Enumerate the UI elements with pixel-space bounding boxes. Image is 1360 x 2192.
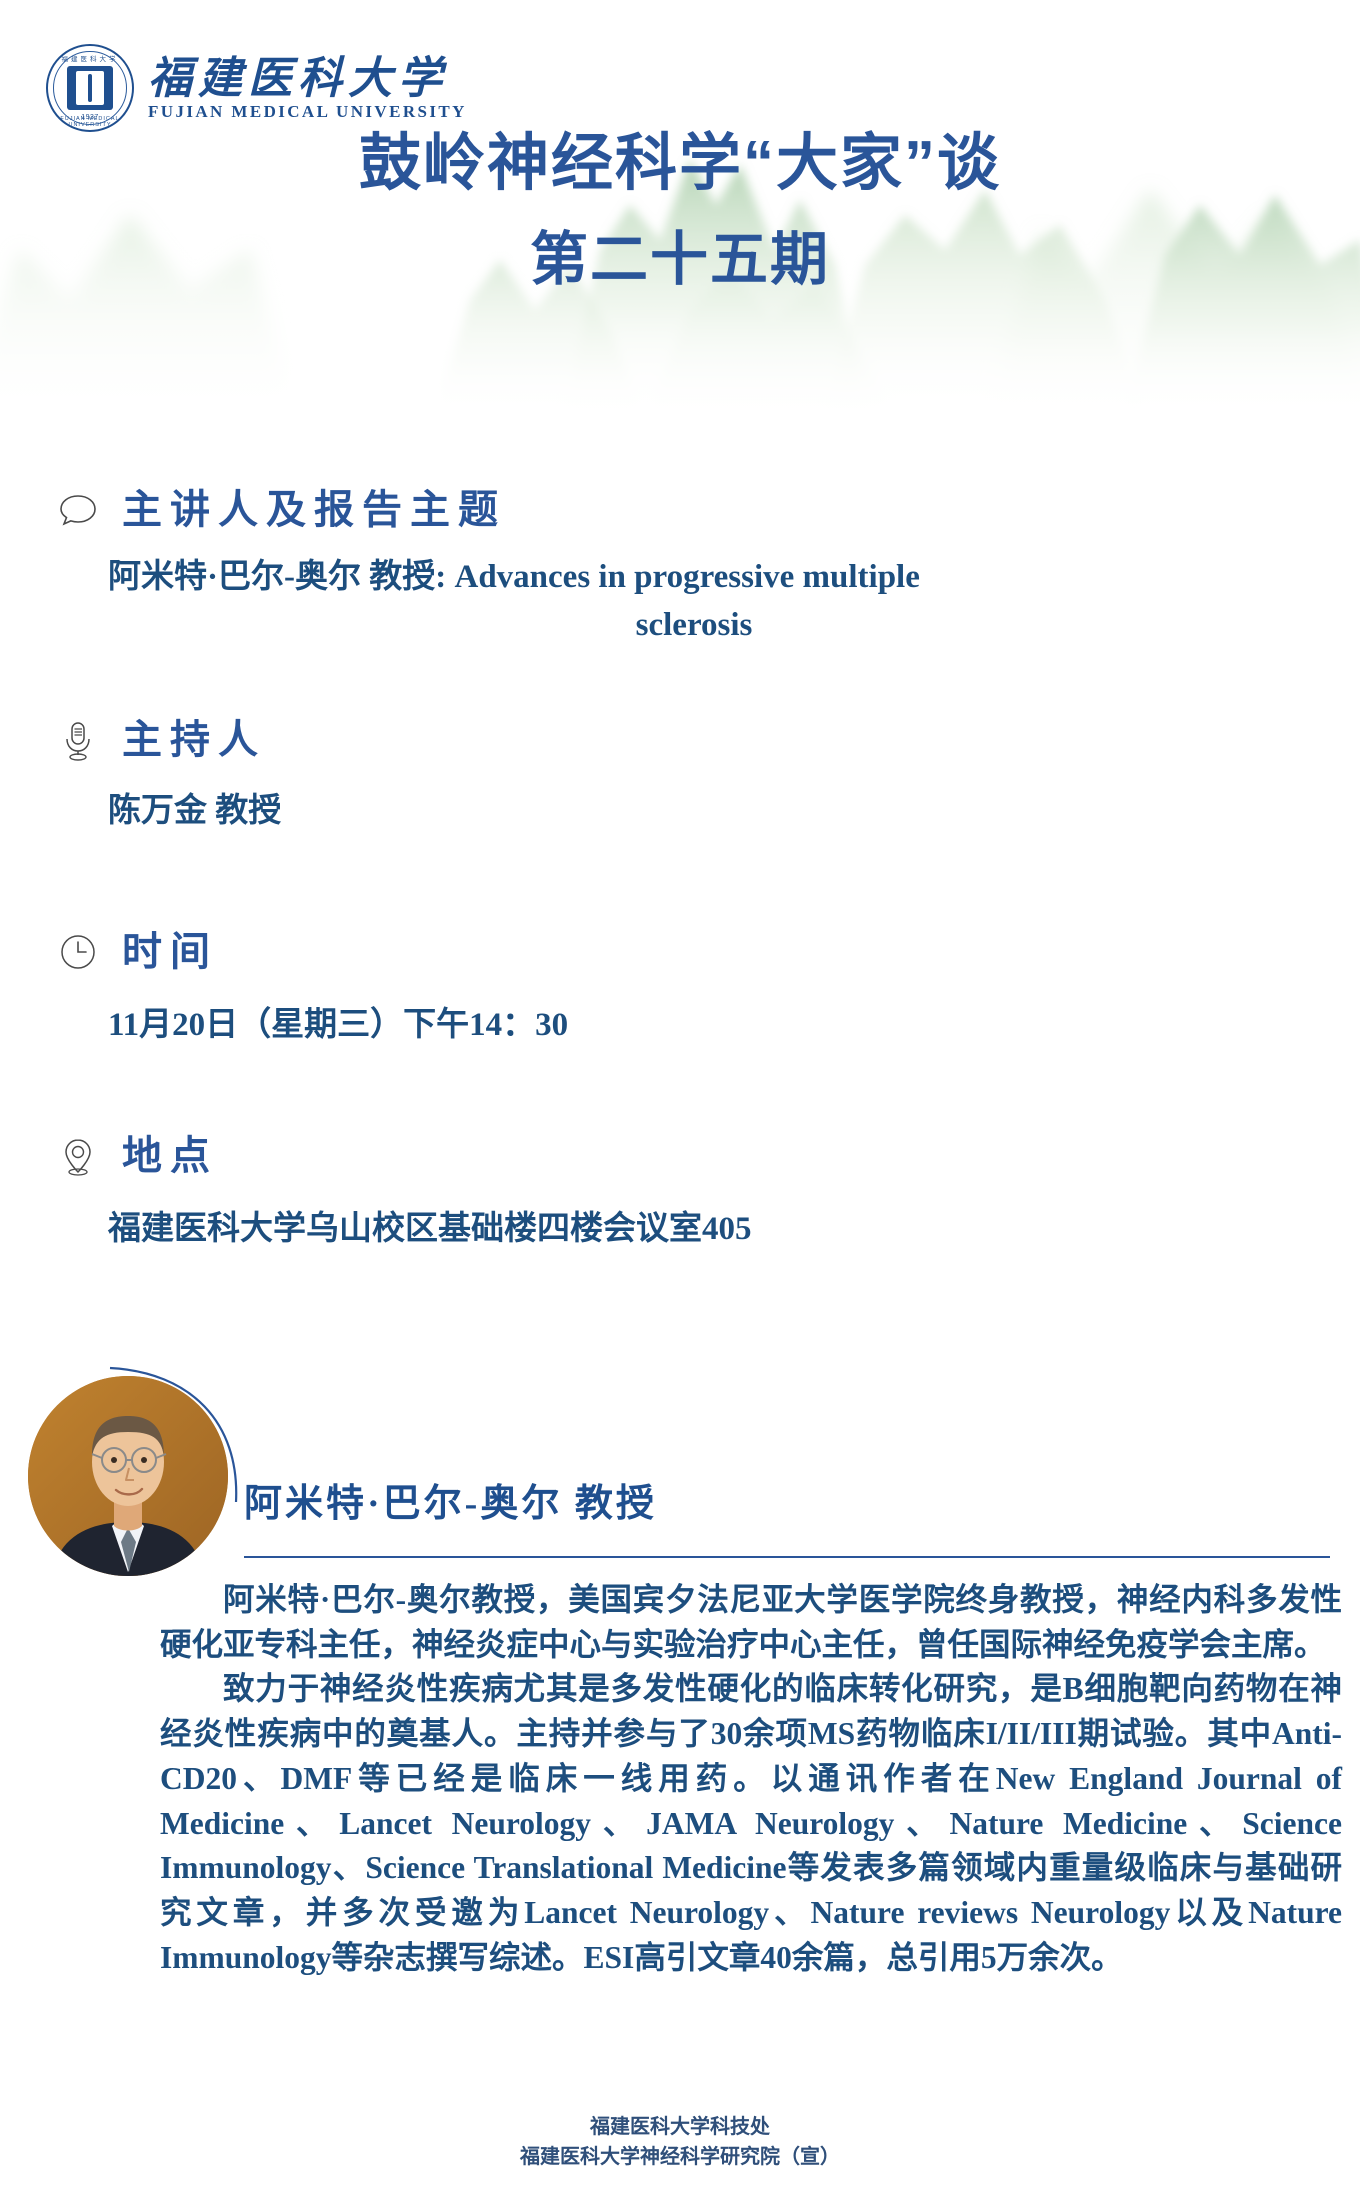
section-header: 主持人: [0, 718, 1360, 762]
section-header: 主讲人及报告主题: [0, 488, 1360, 532]
seal-ring-top-text: 福建医科大学: [48, 53, 132, 63]
university-seal-icon: 福建医科大学 1937 FUJIAN MEDICAL UNIVERSITY: [46, 44, 134, 132]
bio-paragraph-1: 阿米特·巴尔-奥尔教授，美国宾夕法尼亚大学医学院终身教授，神经内科多发性硬化亚专…: [160, 1578, 1342, 1667]
section-title-speaker-topic: 主讲人及报告主题: [122, 488, 506, 532]
microphone-icon: [56, 718, 100, 762]
section-speaker-topic: 主讲人及报告主题 阿米特·巴尔-奥尔 教授: Advances in progr…: [0, 488, 1360, 650]
seal-year: 1937: [81, 114, 99, 121]
section-body-location: 福建医科大学乌山校区基础楼四楼会议室405: [0, 1178, 1360, 1254]
section-header: 时间: [0, 930, 1360, 974]
footer-line-1: 福建医科大学科技处: [0, 2112, 1360, 2142]
clock-icon: [56, 930, 100, 974]
section-title-host: 主持人: [122, 718, 266, 762]
topic-line-2: sclerosis: [108, 602, 1300, 650]
speaker-portrait: [28, 1376, 228, 1576]
university-wordmark: 福建医科大学 FUJIAN MEDICAL UNIVERSITY: [148, 57, 467, 120]
university-name-cn: 福建医科大学: [148, 57, 467, 101]
section-header: 地点: [0, 1134, 1360, 1178]
section-body-speaker-topic: 阿米特·巴尔-奥尔 教授: Advances in progressive mu…: [0, 532, 1360, 650]
section-location: 地点 福建医科大学乌山校区基础楼四楼会议室405: [0, 1134, 1360, 1254]
poster-root: 福建医科大学 1937 FUJIAN MEDICAL UNIVERSITY 福建…: [0, 0, 1360, 2192]
poster-title: 鼓岭神经科学“大家”谈: [0, 130, 1360, 198]
speech-bubble-icon: [56, 488, 100, 532]
seal-emblem-icon: [67, 66, 113, 110]
speaker-divider: [244, 1556, 1330, 1558]
poster-subtitle: 第二十五期: [0, 228, 1360, 292]
speaker-name: 阿米特·巴尔-奥尔 教授: [244, 1472, 657, 1527]
section-body-time: 11月20日（星期三）下午14：30: [0, 974, 1360, 1050]
section-time: 时间 11月20日（星期三）下午14：30: [0, 930, 1360, 1050]
section-title-location: 地点: [122, 1134, 218, 1178]
section-title-time: 时间: [122, 930, 218, 974]
bio-paragraph-2: 致力于神经炎性疾病尤其是多发性硬化的临床转化研究，是B细胞靶向药物在神经炎性疾病…: [160, 1667, 1342, 1980]
university-logo: 福建医科大学 1937 FUJIAN MEDICAL UNIVERSITY 福建…: [46, 44, 467, 132]
section-host: 主持人 陈万金 教授: [0, 718, 1360, 836]
university-name-en: FUJIAN MEDICAL UNIVERSITY: [148, 103, 467, 120]
speaker-bio: 阿米特·巴尔-奥尔教授，美国宾夕法尼亚大学医学院终身教授，神经内科多发性硬化亚专…: [160, 1578, 1342, 1980]
topic-line-1: 阿米特·巴尔-奥尔 教授: Advances in progressive mu…: [108, 559, 920, 595]
footer-line-2: 福建医科大学神经科学研究院（宣）: [0, 2142, 1360, 2172]
seal-ring-bottom-text: FUJIAN MEDICAL UNIVERSITY: [48, 116, 132, 128]
poster-footer: 福建医科大学科技处 福建医科大学神经科学研究院（宣）: [0, 2112, 1360, 2172]
section-body-host: 陈万金 教授: [0, 762, 1360, 836]
location-pin-icon: [56, 1134, 100, 1178]
